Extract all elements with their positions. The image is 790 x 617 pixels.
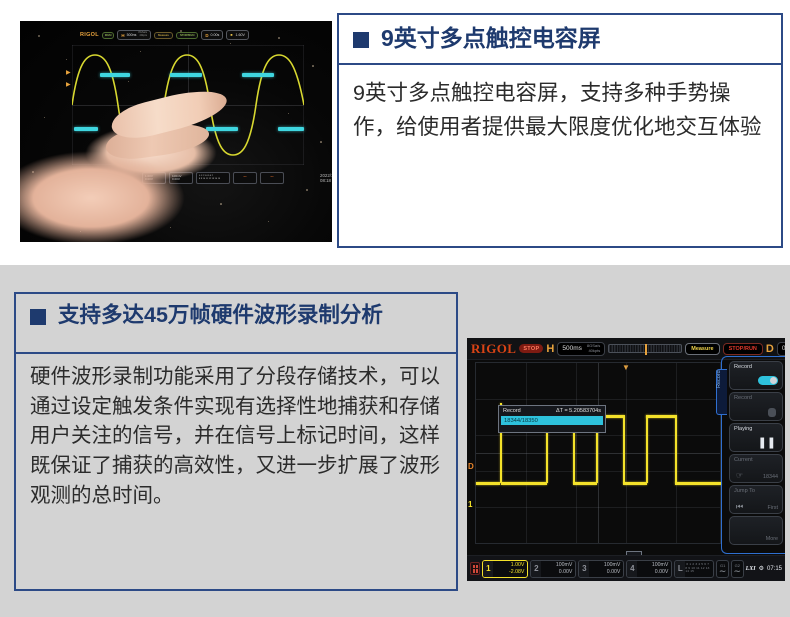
- channel-2-box[interactable]: 2 100mV 0.00V: [530, 560, 576, 578]
- sine-wave-icon: ∼: [733, 568, 741, 574]
- photo-trigger-box: ■ 1.60V: [226, 30, 249, 40]
- memory-depth: 40kpts: [587, 349, 600, 353]
- delay-value: 0.00s: [782, 345, 785, 352]
- channel-1-box[interactable]: 1 1.00V -2.08V: [482, 560, 528, 578]
- menu-tab-label: Record: [716, 378, 722, 388]
- menu-value-more: More: [766, 536, 778, 542]
- square-bullet-icon: [353, 32, 369, 48]
- photo-measure-button[interactable]: Measure: [154, 32, 173, 39]
- menu-item-record-button[interactable]: Record: [729, 392, 783, 421]
- delay-box[interactable]: 0.00s: [777, 342, 785, 356]
- menu-label-current: Current: [734, 457, 753, 463]
- photo-gen2-icon[interactable]: ∼: [260, 172, 284, 184]
- logic-label: L: [675, 561, 685, 577]
- card-title-touchscreen: 9英寸多点触控电容屏: [381, 24, 601, 52]
- menu-label-record-2: Record: [734, 395, 752, 401]
- channel1-ground-marker: 1: [468, 500, 472, 509]
- menu-item-jump-to[interactable]: Jump To ⏮ First: [729, 485, 783, 514]
- feature-card-touchscreen: 9英寸多点触控电容屏 9英寸多点触控电容屏，支持多种手势操作，给使用者提供最大限…: [337, 13, 783, 248]
- photo-scope-ui: RIGOL RUN H 500ns 8GSa/s 40kpts Measure …: [20, 21, 332, 242]
- photo-trigger-level: 1.60V: [235, 33, 244, 37]
- system-clock: 07:15: [767, 566, 782, 572]
- zoom-window-strip[interactable]: [608, 344, 682, 353]
- menu-label-record: Record: [734, 364, 752, 370]
- channel-4-offset: 0.00V: [655, 569, 669, 576]
- logic-line-2: 8 9 10 11 12 13 14 15: [685, 567, 710, 575]
- menu-item-playing[interactable]: Playing ❚❚: [729, 423, 783, 452]
- photo-clock: 2022/11/22 08:18: [320, 173, 332, 183]
- sine-wave-icon: ∼: [719, 568, 727, 574]
- photo-mem-depth: 40kpts: [138, 35, 147, 38]
- delay-key: D: [205, 33, 208, 38]
- app-grid-icon[interactable]: [470, 562, 480, 575]
- oscilloscope-screenshot: RIGOL STOP H 500ms 8GSa/s 40kpts Measure…: [467, 338, 785, 581]
- photo-gen1-icon[interactable]: ∼: [233, 172, 257, 184]
- card-header-touchscreen: 9英寸多点触控电容屏: [339, 15, 781, 65]
- record-knob-icon[interactable]: [768, 408, 776, 417]
- photo-stop-run-button[interactable]: STOP/RUN: [176, 32, 198, 39]
- scope-channel-bar: 1 1.00V -2.08V 2 100mV 0.00V 3 100mV 0.0…: [467, 555, 785, 581]
- menu-tab-record[interactable]: Record: [716, 369, 727, 415]
- channel-3-number: 3: [579, 561, 589, 577]
- photo-scope-toolbar: RIGOL RUN H 500ns 8GSa/s 40kpts Measure …: [80, 29, 318, 41]
- channel-1-offset: -2.08V: [509, 569, 524, 576]
- record-delta-t: ΔT = 5.20583704s: [556, 408, 601, 414]
- timebase-value: 500ms: [562, 345, 582, 352]
- timebase-box[interactable]: 500ms 8GSa/s 40kpts: [557, 342, 605, 356]
- channel-3-offset: 0.00V: [607, 569, 621, 576]
- scope-toolbar: RIGOL STOP H 500ms 8GSa/s 40kpts Measure…: [467, 338, 785, 360]
- card-body-touchscreen: 9英寸多点触控电容屏，支持多种手势操作，给使用者提供最大限度优化地交互体验: [339, 65, 781, 151]
- photo-delay-value: 0.00s: [211, 33, 220, 37]
- rigol-logo: RIGOL: [80, 32, 99, 38]
- pause-icon[interactable]: ❚❚: [758, 438, 776, 449]
- rigol-logo: RIGOL: [471, 341, 516, 357]
- card-body-record: 硬件波形录制功能采用了分段存储技术，可以通过设定触发条件实现有选择性地捕获和存储…: [16, 354, 456, 517]
- feature-card-record: 支持多达45万帧硬件波形录制分析 硬件波形录制功能采用了分段存储技术，可以通过设…: [14, 292, 458, 591]
- record-toggle-switch[interactable]: [758, 376, 778, 385]
- channel-4-box[interactable]: 4 100mV 0.00V: [626, 560, 672, 578]
- skip-first-icon: ⏮: [736, 503, 743, 511]
- menu-value-current: 18344: [763, 474, 778, 480]
- record-menu-panel: Record Record Record Playing ❚❚ Current …: [727, 361, 785, 547]
- square-bullet-icon: [30, 309, 46, 325]
- card-text-record: 硬件波形录制功能采用了分段存储技术，可以通过设定触发条件实现有选择性地捕获和存储…: [30, 362, 442, 511]
- stop-run-button[interactable]: STOP/RUN: [723, 343, 763, 355]
- photo-run-state: RUN: [102, 32, 115, 39]
- photo-timebase-box: H 500ns 8GSa/s 40kpts: [117, 30, 151, 40]
- photo-touchscreen-demo: RIGOL RUN H 500ns 8GSa/s 40kpts Measure …: [20, 21, 332, 242]
- lxi-indicator: LXI: [746, 566, 756, 572]
- menu-label-playing: Playing: [734, 426, 752, 432]
- menu-item-current[interactable]: Current ☞ 18344: [729, 454, 783, 483]
- waveform-plot[interactable]: Record ΔT = 5.20583704s 18344/18350 ◀: [475, 362, 721, 544]
- channel-1-number: 1: [483, 561, 493, 577]
- channel-2-offset: 0.00V: [559, 569, 573, 576]
- channel-3-box[interactable]: 3 100mV 0.00V: [578, 560, 624, 578]
- card-text-touchscreen: 9英寸多点触控电容屏，支持多种手势操作，给使用者提供最大限度优化地交互体验: [353, 77, 767, 145]
- delay-key-icon: D: [766, 343, 774, 355]
- channel-2-number: 2: [531, 561, 541, 577]
- menu-item-more[interactable]: More: [729, 516, 783, 545]
- square-wave-trace: [476, 363, 720, 543]
- generator-1-box[interactable]: G1 ∼: [716, 560, 729, 578]
- photo-delay-box: D 0.00s: [201, 30, 223, 40]
- horizontal-key-icon: H: [546, 343, 554, 355]
- card-header-record: 支持多达45万帧硬件波形录制分析: [16, 294, 456, 354]
- run-state-badge[interactable]: STOP: [519, 344, 543, 353]
- delay-ground-marker: D: [468, 462, 474, 471]
- generator-2-box[interactable]: G2 ∼: [731, 560, 744, 578]
- horizontal-key: H: [121, 33, 124, 38]
- menu-label-jump-to: Jump To: [734, 488, 755, 494]
- measure-button[interactable]: Measure: [685, 343, 719, 355]
- usb-icon: ⚙: [759, 565, 764, 572]
- hand-pointer-icon: ☞: [736, 472, 743, 480]
- record-dialog-title: Record: [503, 408, 521, 414]
- channel-4-number: 4: [627, 561, 637, 577]
- record-frame-counter: 18344/18350: [501, 416, 603, 425]
- logic-channels-box[interactable]: L 0 1 2 3 4 5 6 7 8 9 10 11 12 13 14 15: [674, 560, 714, 578]
- menu-item-record-toggle[interactable]: Record: [729, 361, 783, 390]
- photo-timebase-value: 500ns: [127, 33, 137, 37]
- card-title-record: 支持多达45万帧硬件波形录制分析: [58, 302, 383, 329]
- page-root: RIGOL RUN H 500ns 8GSa/s 40kpts Measure …: [0, 0, 790, 617]
- menu-value-jump-to: First: [768, 505, 778, 511]
- record-info-dialog: Record ΔT = 5.20583704s 18344/18350: [498, 405, 606, 433]
- status-area: LXI ⚙ 07:15: [746, 565, 782, 572]
